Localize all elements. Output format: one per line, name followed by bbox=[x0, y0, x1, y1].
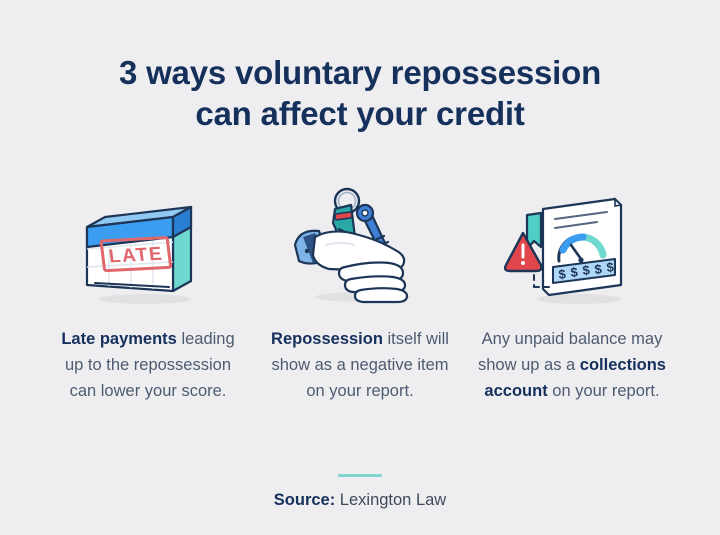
footer-divider bbox=[338, 474, 382, 477]
caption-bold-late-payments: Late payments bbox=[61, 330, 177, 348]
page-title-line-1: 3 ways voluntary repossession bbox=[40, 52, 680, 93]
source-label: Source: bbox=[274, 491, 335, 509]
caption-text-collections: on your report. bbox=[548, 382, 660, 400]
reason-column-repossession: Repossession itself will show as a negat… bbox=[260, 175, 460, 404]
caption-bold-repossession: Repossession bbox=[271, 330, 383, 348]
late-stamp-text: LATE bbox=[108, 244, 165, 268]
reasons-columns: LATE Late payments leading up to the rep… bbox=[48, 175, 672, 404]
reason-column-late-payments: LATE Late payments leading up to the rep… bbox=[48, 175, 248, 404]
reason-column-collections: $ $ $ $ $ bbox=[472, 175, 672, 404]
reason-caption-late-payments: Late payments leading up to the reposses… bbox=[50, 326, 246, 404]
infographic-canvas: 3 ways voluntary repossession can affect… bbox=[0, 0, 720, 535]
page-title: 3 ways voluntary repossession can affect… bbox=[0, 52, 720, 135]
hand-holding-keys-icon bbox=[285, 175, 435, 310]
reason-caption-collections: Any unpaid balance may show up as a coll… bbox=[474, 326, 670, 404]
calendar-late-stamp-icon: LATE bbox=[73, 175, 223, 310]
reason-caption-repossession: Repossession itself will show as a negat… bbox=[262, 326, 458, 404]
source-attribution: Source: Lexington Law bbox=[0, 491, 720, 510]
page-title-line-2: can affect your credit bbox=[40, 93, 680, 134]
source-name: Lexington Law bbox=[335, 491, 446, 509]
credit-report-warning-icon: $ $ $ $ $ bbox=[497, 175, 647, 310]
